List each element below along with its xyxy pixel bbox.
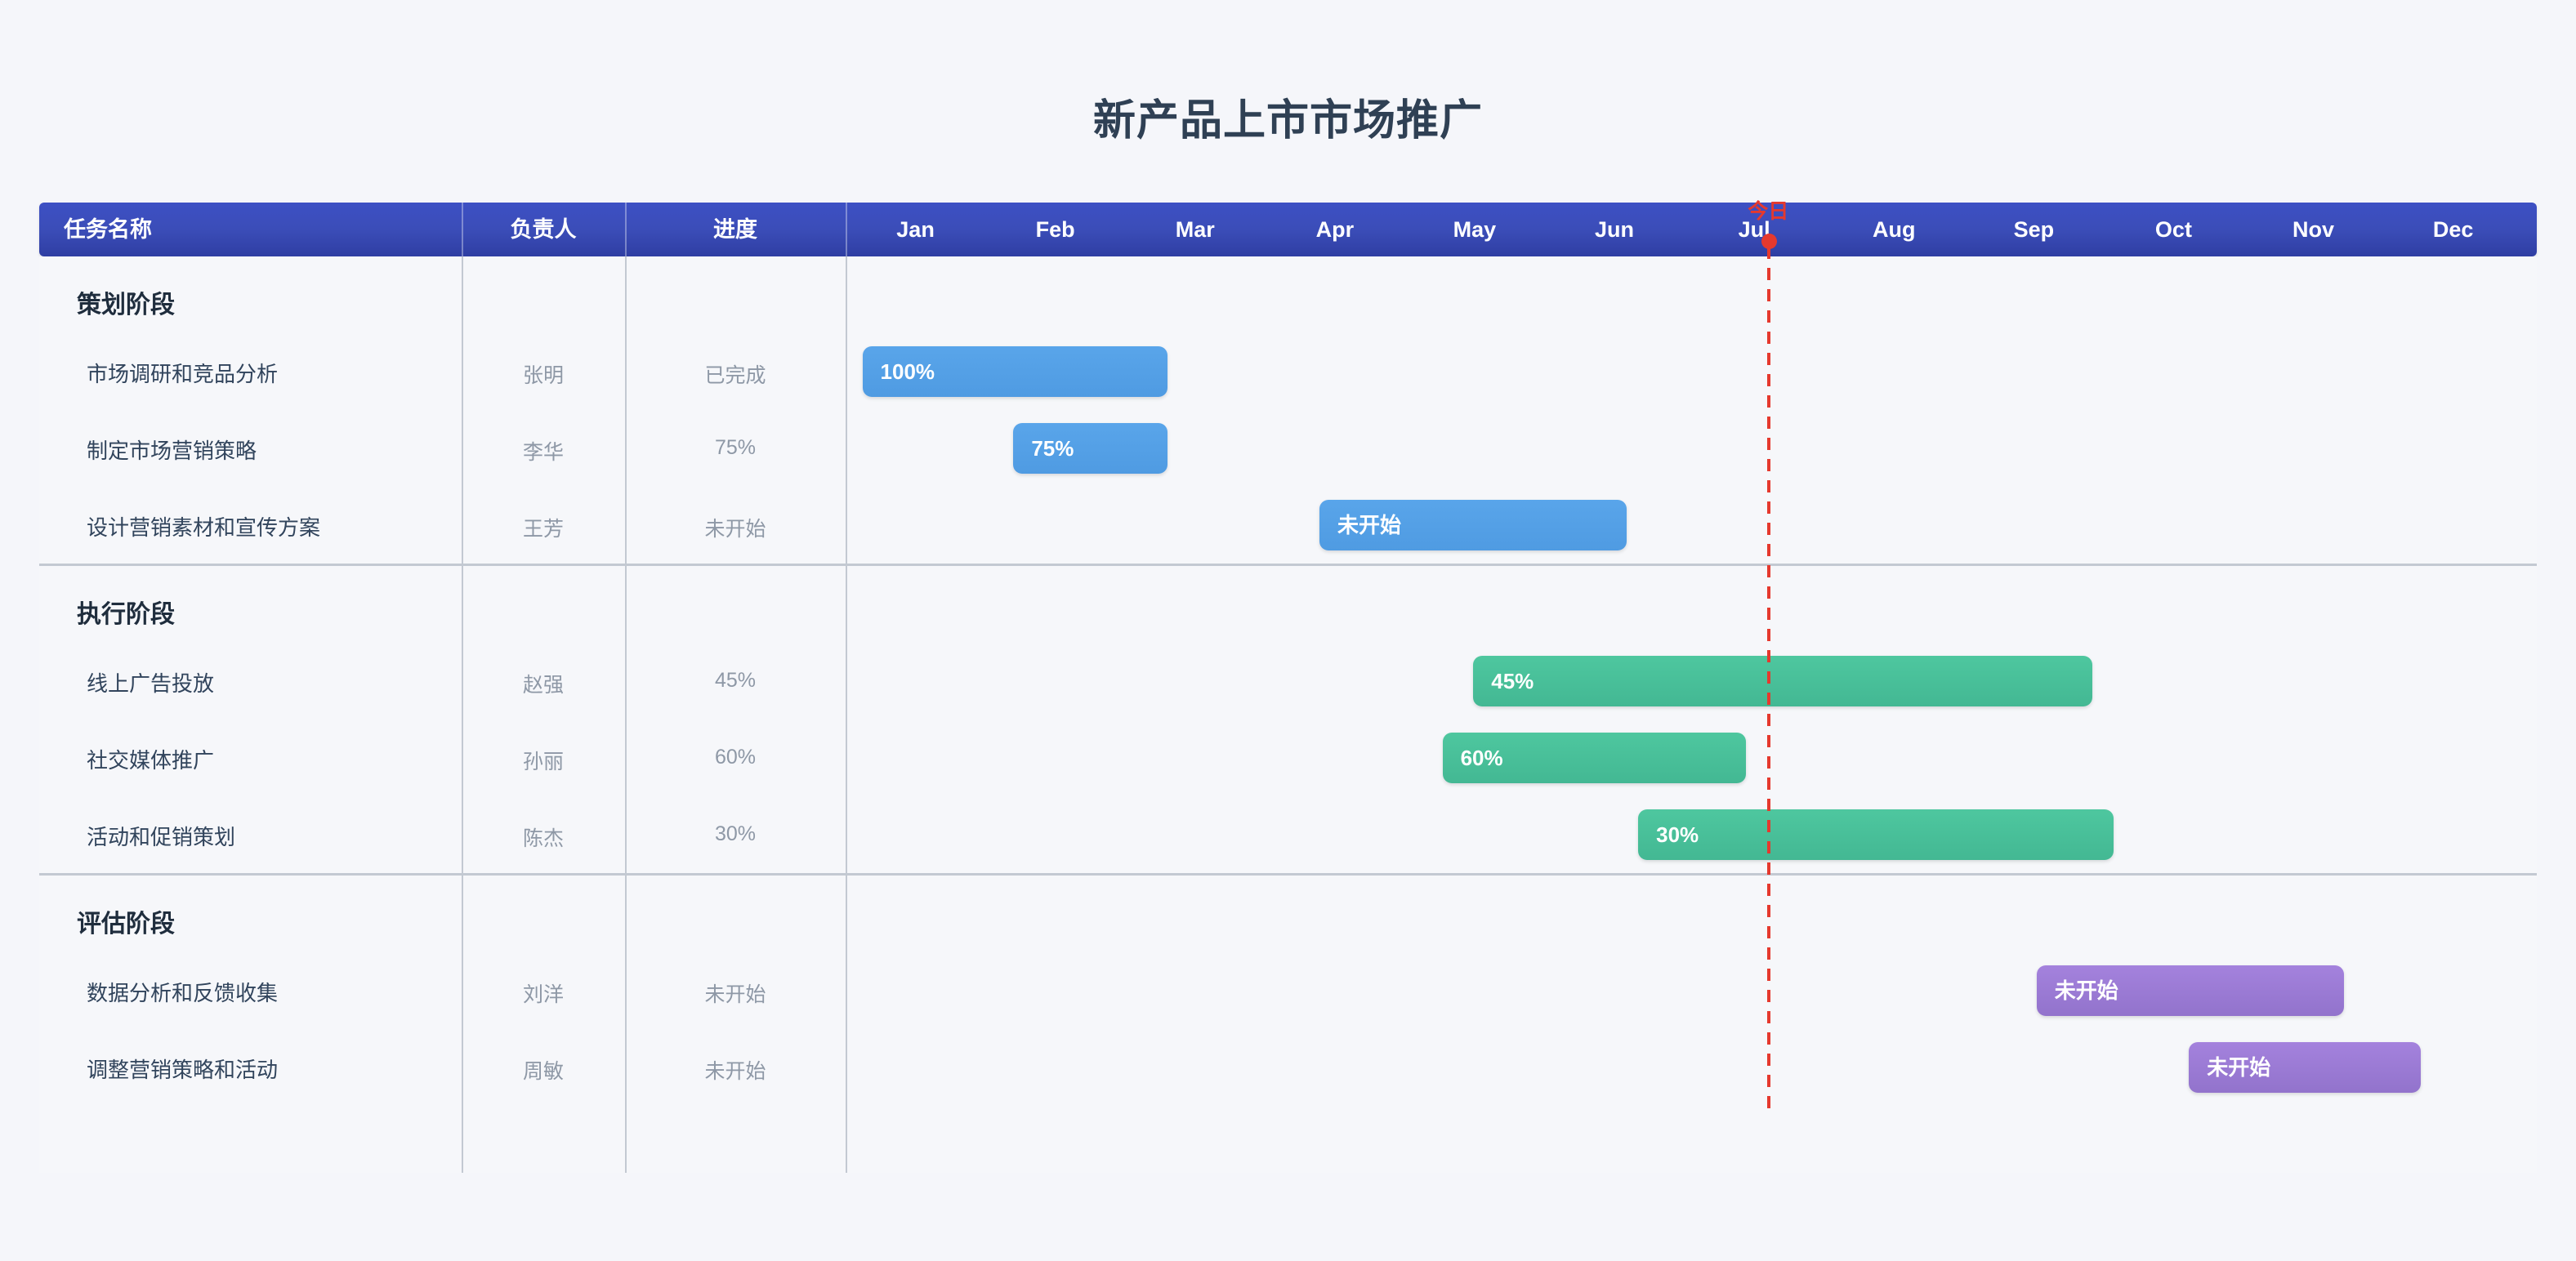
month-header-nov: Nov (2243, 203, 2383, 256)
task-owner: 张明 (462, 359, 625, 389)
phase-title: 策划阶段 (77, 284, 175, 320)
task-name[interactable]: 线上广告投放 (87, 667, 214, 697)
gantt-bar[interactable]: 100% (863, 346, 1167, 397)
column-divider-owner (462, 256, 463, 1173)
month-header-oct: Oct (2104, 203, 2243, 256)
phase-title: 执行阶段 (77, 594, 175, 630)
page-title: 新产品上市市场推广 (0, 86, 2576, 147)
month-header-sep: Sep (1964, 203, 2104, 256)
month-header-feb: Feb (985, 203, 1125, 256)
month-header-may: May (1404, 203, 1544, 256)
month-header-aug: Aug (1824, 203, 1964, 256)
task-owner: 赵强 (462, 669, 625, 698)
task-name[interactable]: 设计营销素材和宣传方案 (87, 511, 320, 541)
task-progress: 60% (625, 746, 846, 769)
gantt-bar[interactable]: 未开始 (2189, 1042, 2421, 1093)
task-name[interactable]: 市场调研和竞品分析 (87, 358, 278, 388)
task-progress: 未开始 (625, 513, 846, 542)
month-header-jan: Jan (846, 203, 985, 256)
phase-separator (39, 873, 2537, 876)
column-divider-timeline (846, 256, 847, 1173)
table-header: 任务名称 负责人 进度 JanFebMarAprMayJunJulAugSepO… (39, 203, 2537, 256)
task-progress: 75% (625, 436, 846, 460)
gantt-bar[interactable]: 75% (1013, 423, 1167, 474)
month-header-apr: Apr (1265, 203, 1404, 256)
phase-separator (39, 564, 2537, 566)
task-owner: 刘洋 (462, 978, 625, 1008)
task-name[interactable]: 调整营销策略和活动 (87, 1054, 278, 1084)
gantt-bar[interactable]: 未开始 (2037, 965, 2344, 1016)
gantt-bar[interactable]: 60% (1443, 733, 1746, 783)
today-line (1767, 247, 1770, 1112)
task-progress: 已完成 (625, 359, 846, 389)
header-owner: 负责人 (462, 203, 625, 256)
task-owner: 李华 (462, 436, 625, 466)
task-name[interactable]: 社交媒体推广 (87, 744, 214, 774)
month-header-dec: Dec (2383, 203, 2523, 256)
gantt-bar[interactable]: 未开始 (1319, 500, 1627, 550)
header-task-name: 任务名称 (64, 203, 152, 256)
task-owner: 王芳 (462, 513, 625, 542)
task-progress: 30% (625, 822, 846, 846)
gantt-bar[interactable]: 45% (1473, 656, 2092, 706)
task-progress: 未开始 (625, 1055, 846, 1085)
phase-title: 评估阶段 (77, 903, 175, 939)
task-owner: 陈杰 (462, 822, 625, 852)
today-label: 今日 (1748, 195, 1788, 225)
task-progress: 45% (625, 669, 846, 693)
task-name[interactable]: 制定市场营销策略 (87, 434, 257, 465)
task-name[interactable]: 活动和促销策划 (87, 821, 235, 851)
header-progress: 进度 (625, 203, 846, 256)
task-name[interactable]: 数据分析和反馈收集 (87, 977, 278, 1007)
column-divider-progress (625, 256, 627, 1173)
month-header-mar: Mar (1125, 203, 1265, 256)
month-header-jun: Jun (1545, 203, 1685, 256)
task-owner: 孙丽 (462, 746, 625, 775)
gantt-bar[interactable]: 30% (1638, 809, 2114, 860)
gantt-body: 策划阶段市场调研和竞品分析张明已完成制定市场营销策略李华75%设计营销素材和宣传… (39, 256, 2537, 1173)
task-owner: 周敏 (462, 1055, 625, 1085)
task-progress: 未开始 (625, 978, 846, 1008)
